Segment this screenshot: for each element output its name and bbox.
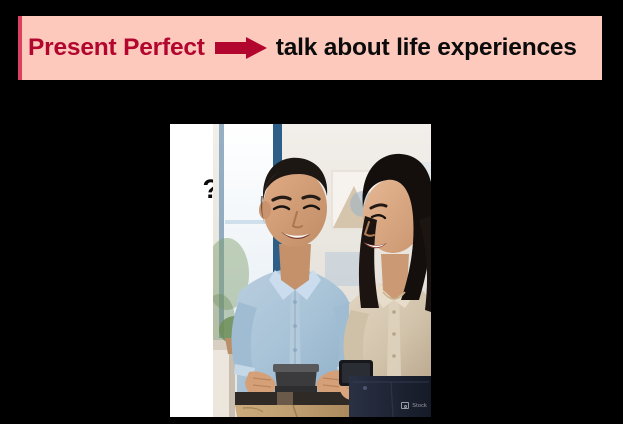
photo-artwork [213,124,431,417]
question-text-fragment: ? [203,174,214,205]
question-textbox: ? [170,124,213,417]
banner-term-label: Present Perfect [28,34,205,62]
photo-watermark: Stock [401,402,427,409]
present-perfect-banner: Present Perfect talk about life experien… [18,16,602,80]
arrow-head [246,37,267,59]
camera-icon [401,402,409,409]
banner-definition-label: talk about life experiences [276,34,577,62]
two-colleagues-talking-photo: Stock [213,124,431,417]
right-arrow-icon [215,37,267,59]
watermark-label: Stock [412,403,427,409]
banner-content: Present Perfect talk about life experien… [28,34,577,62]
arrow-shaft [215,42,248,54]
